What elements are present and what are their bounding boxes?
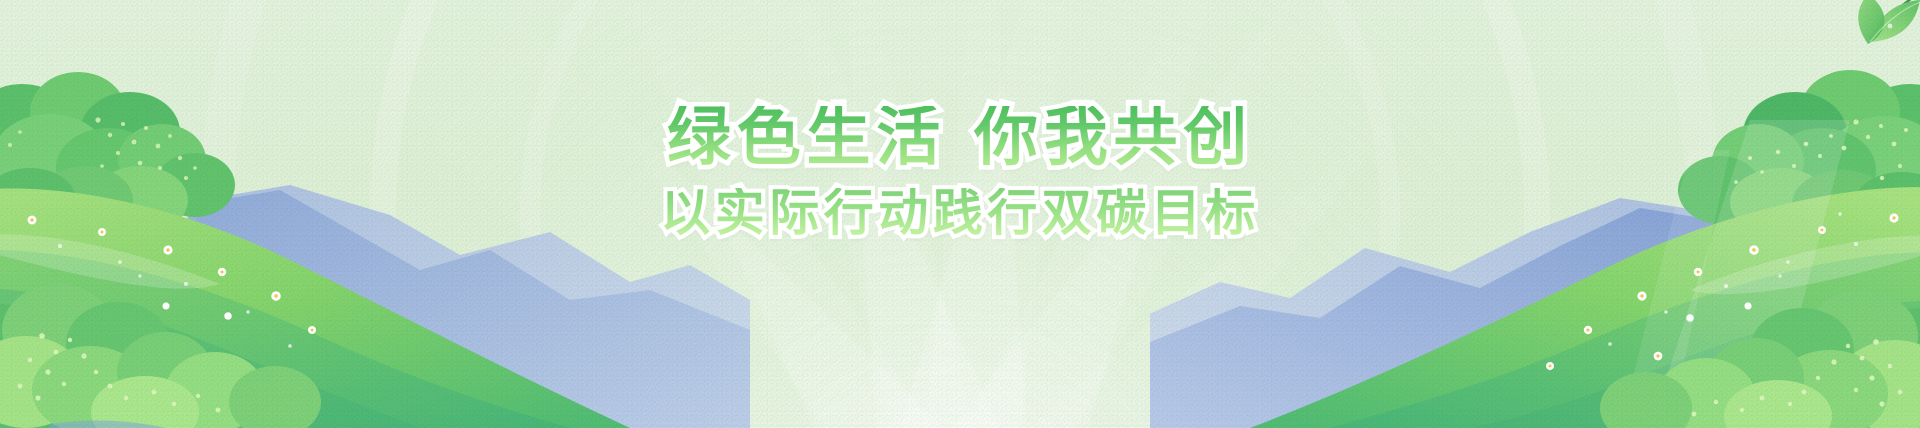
headline-block: 绿色生活 你我共创 绿色生活 你我共创 以实际行动践行双碳目标 以实际行动践行双… [0,106,1920,246]
subtitle-row: 以实际行动践行双碳目标 以实际行动践行双碳目标 [0,188,1920,246]
main-title-row: 绿色生活 你我共创 绿色生活 你我共创 [0,106,1920,178]
subtitle: 以实际行动践行双碳目标 [0,188,1920,238]
main-title: 绿色生活 你我共创 [0,106,1920,170]
green-living-banner: 绿色生活 你我共创 绿色生活 你我共创 以实际行动践行双碳目标 以实际行动践行双… [0,0,1920,428]
